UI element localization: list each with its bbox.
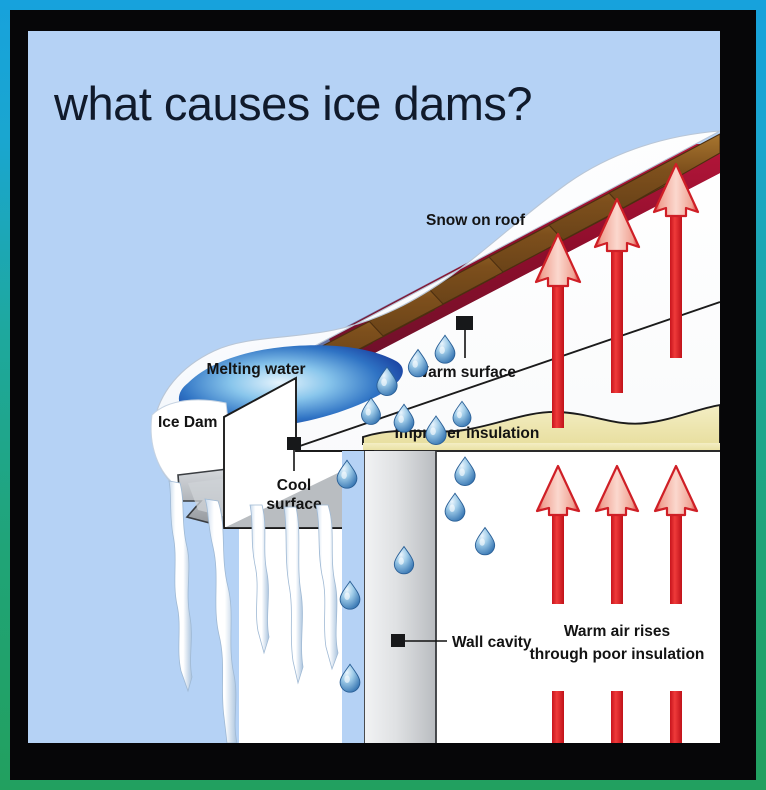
label-melting-water: Melting water bbox=[206, 361, 305, 378]
page-title: what causes ice dams? bbox=[53, 77, 532, 130]
heat-arrow-stub bbox=[552, 691, 564, 743]
label-ice-dam: Ice Dam bbox=[158, 414, 217, 431]
ice-dam-diagram: what causes ice dams? Improper insulatio… bbox=[28, 31, 720, 743]
label-snow-on-roof: Snow on roof bbox=[426, 212, 526, 229]
heat-arrow-stub bbox=[611, 691, 623, 743]
wall-cavity-marker bbox=[391, 634, 405, 647]
label-warm-air-line2: through poor insulation bbox=[530, 646, 705, 663]
heat-arrow-stub bbox=[670, 691, 682, 743]
warm-surface-marker bbox=[456, 316, 473, 330]
poster-frame: what causes ice dams? Improper insulatio… bbox=[0, 0, 766, 790]
label-warm-surface: Warm surface bbox=[414, 364, 516, 381]
cool-surface-marker bbox=[287, 437, 301, 450]
label-cool-surface-line1: Cool bbox=[277, 477, 311, 494]
label-improper-insulation: Improper insulation bbox=[395, 425, 540, 442]
wall-cavity-column bbox=[364, 451, 436, 743]
label-wall-cavity: Wall cavity bbox=[452, 634, 532, 651]
label-warm-air-line1: Warm air rises bbox=[564, 623, 670, 640]
